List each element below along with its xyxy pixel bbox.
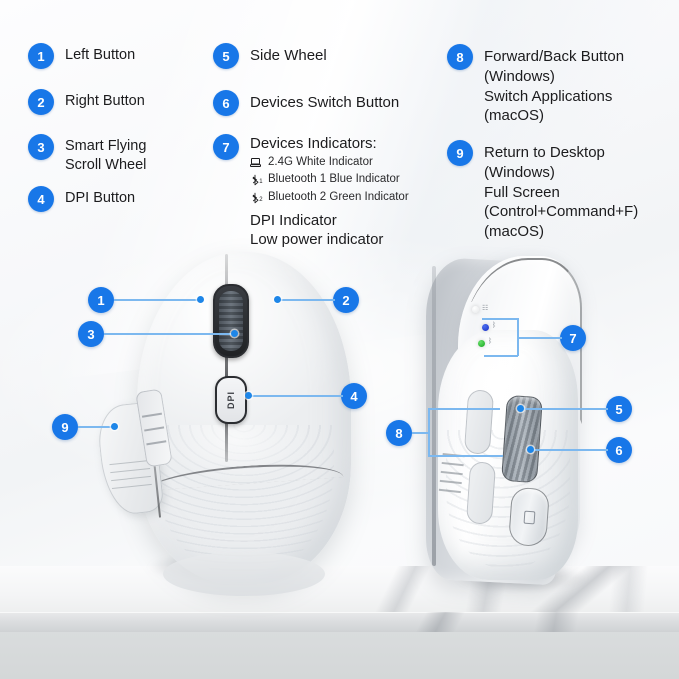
callout-badge-6: 6 <box>606 437 632 463</box>
legend-label-3: Smart Flying Scroll Wheel <box>65 134 146 175</box>
callout-dot-6 <box>527 446 534 453</box>
callout-line-7 <box>517 337 562 339</box>
bluetooth-1-led-icon: ᛒ <box>492 322 496 329</box>
callout-line-2 <box>277 299 335 301</box>
indicator-label-bt2: Bluetooth 2 Green Indicator <box>268 189 409 207</box>
legend-badge-3: 3 <box>28 134 54 160</box>
callout-bracket-8-top <box>428 408 500 410</box>
legend-label-5: Side Wheel <box>250 43 327 66</box>
callout-line-8 <box>412 432 429 434</box>
legend-badge-8: 8 <box>447 44 473 70</box>
low-power-indicator-label: Low power indicator <box>250 230 409 250</box>
legend-item-8: 8 Forward/Back Button (Windows) Switch A… <box>447 44 624 126</box>
callout-badge-9: 9 <box>52 414 78 440</box>
legend-badge-2: 2 <box>28 89 54 115</box>
mouse-top-rear <box>163 552 325 596</box>
green-led <box>478 340 485 347</box>
callout-line-4 <box>248 395 343 397</box>
callout-dot-4 <box>245 392 252 399</box>
callout-badge-2: 2 <box>333 287 359 313</box>
white-led <box>472 306 479 313</box>
callout-dot-2 <box>274 296 281 303</box>
devices-switch-icon <box>524 511 536 525</box>
legend-item-1: 1 Left Button <box>28 43 135 69</box>
callout-bracket-8-vertical <box>428 408 430 456</box>
legend-badge-4: 4 <box>28 186 54 212</box>
scroll-wheel <box>213 284 249 358</box>
wall-below-desk <box>0 632 679 679</box>
legend-item-2: 2 Right Button <box>28 89 145 115</box>
callout-bracket-7-vertical <box>517 318 519 356</box>
mouse-side-view: ☷ ᛒ ᛒ <box>418 258 648 604</box>
indicator-row-bt1: 1 Bluetooth 1 Blue Indicator <box>250 171 409 189</box>
bluetooth-2-led-icon: ᛒ <box>488 338 492 345</box>
callout-bracket-7-bottom <box>484 355 518 357</box>
dpi-button: DPI <box>215 376 247 424</box>
indicator-label-bt1: Bluetooth 1 Blue Indicator <box>268 171 400 189</box>
legend-badge-9: 9 <box>447 140 473 166</box>
legend-label-4: DPI Button <box>65 186 135 208</box>
legend-label-1: Left Button <box>65 43 135 65</box>
indicator-row-24g: 2.4G White Indicator <box>250 154 409 172</box>
legend-label-6: Devices Switch Button <box>250 90 399 113</box>
callout-dot-5 <box>517 405 524 412</box>
usb-dongle-led-icon: ☷ <box>482 304 488 312</box>
callout-badge-7: 7 <box>560 325 586 351</box>
dpi-indicator-label: DPI Indicator <box>250 211 409 231</box>
bluetooth-2-icon: 2 <box>250 192 265 204</box>
indicator-label-24g: 2.4G White Indicator <box>268 154 373 172</box>
callout-dot-1 <box>197 296 204 303</box>
blue-led <box>482 324 489 331</box>
legend-label-9: Return to Desktop (Windows) Full Screen … <box>484 140 638 242</box>
callout-line-1 <box>114 299 200 301</box>
back-button <box>466 461 496 525</box>
mouse-side-edge <box>432 266 436 566</box>
legend-label-2: Right Button <box>65 89 145 111</box>
legend-item-9: 9 Return to Desktop (Windows) Full Scree… <box>447 140 638 242</box>
legend-badge-6: 6 <box>213 90 239 116</box>
device-indicator-leds: ☷ ᛒ ᛒ <box>472 306 528 348</box>
legend-item-6: 6 Devices Switch Button <box>213 90 399 116</box>
product-annotation-diagram: 1 Left Button 2 Right Button 3 Smart Fly… <box>0 0 679 679</box>
callout-bracket-7-top <box>482 318 518 320</box>
devices-switch-button <box>508 487 550 548</box>
callout-badge-8: 8 <box>386 420 412 446</box>
callout-badge-4: 4 <box>341 383 367 409</box>
forward-button <box>464 389 494 455</box>
callout-line-3 <box>104 333 234 335</box>
dpi-button-label: DPI <box>226 391 236 409</box>
indicator-row-bt2: 2 Bluetooth 2 Green Indicator <box>250 189 409 207</box>
legend: 1 Left Button 2 Right Button 3 Smart Fly… <box>0 0 679 250</box>
legend-label-8: Forward/Back Button (Windows) Switch App… <box>484 44 624 126</box>
callout-line-6 <box>530 449 608 451</box>
svg-text:2: 2 <box>259 197 263 203</box>
legend-badge-5: 5 <box>213 43 239 69</box>
callout-badge-1: 1 <box>88 287 114 313</box>
callout-dot-9 <box>111 423 118 430</box>
scroll-wheel-ridges <box>219 291 243 351</box>
bluetooth-1-icon: 1 <box>250 174 265 186</box>
desk-edge-veins <box>360 612 679 632</box>
legend-badge-7: 7 <box>213 134 239 160</box>
legend-item-4: 4 DPI Button <box>28 186 135 212</box>
callout-bracket-8-bottom <box>428 455 503 457</box>
callout-badge-5: 5 <box>606 396 632 422</box>
legend-item-3: 3 Smart Flying Scroll Wheel <box>28 134 146 175</box>
indicators-heading: Devices Indicators: <box>250 134 409 154</box>
legend-item-5: 5 Side Wheel <box>213 43 327 69</box>
callout-badge-3: 3 <box>78 321 104 347</box>
callout-line-9 <box>78 426 114 428</box>
legend-item-7: 7 Devices Indicators: 2.4G White Indicat… <box>213 134 409 250</box>
svg-text:1: 1 <box>259 179 263 185</box>
callout-dot-3 <box>231 330 238 337</box>
legend-badge-1: 1 <box>28 43 54 69</box>
usb-dongle-icon <box>250 157 265 168</box>
mouse-top-view: DPI <box>95 252 360 604</box>
callout-line-5 <box>520 408 608 410</box>
